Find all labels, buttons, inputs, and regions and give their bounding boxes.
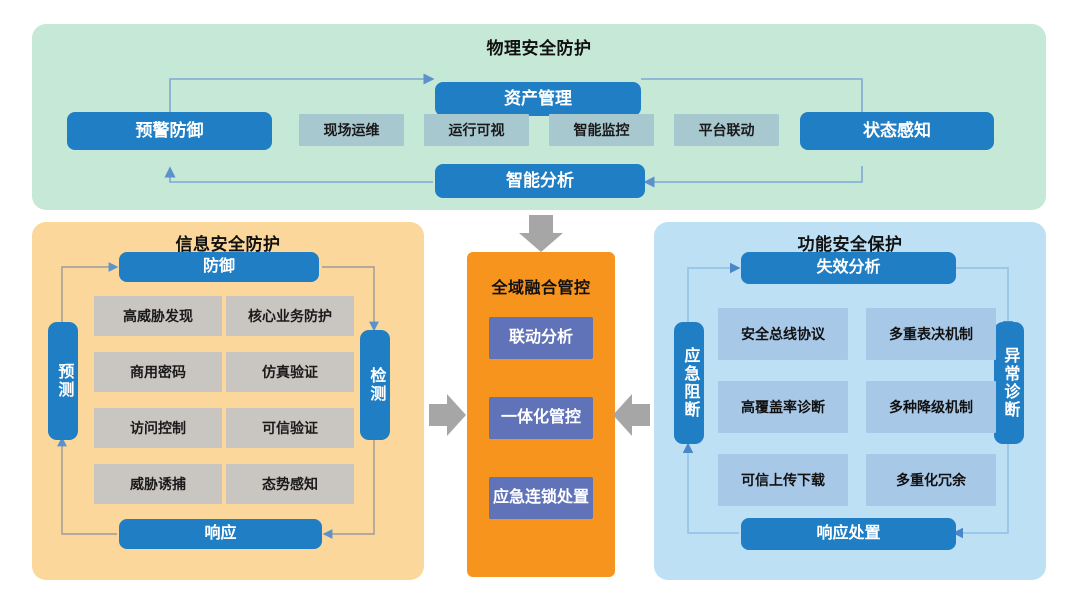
diagram-canvas: 物理安全防护 — [0, 0, 1080, 593]
info-item-3-1[interactable]: 态势感知 — [226, 464, 354, 504]
panel-functional-safety: 功能安全保护 失效分析 应急 — [654, 222, 1046, 580]
node-platform-linkage[interactable]: 平台联动 — [674, 114, 779, 146]
node-defense[interactable]: 防御 — [119, 252, 319, 282]
central-item-integrated-control[interactable]: 一体化管控 — [489, 397, 593, 439]
node-intelligent-analysis[interactable]: 智能分析 — [435, 164, 645, 198]
node-failure-analysis[interactable]: 失效分析 — [741, 252, 956, 284]
node-prediction-label: 预测 — [55, 363, 72, 399]
info-item-2-1[interactable]: 可信验证 — [226, 408, 354, 448]
panel-physical-title: 物理安全防护 — [32, 34, 1046, 59]
func-item-2-0[interactable]: 可信上传下载 — [718, 454, 848, 506]
info-item-1-0[interactable]: 商用密码 — [94, 352, 222, 392]
node-status-awareness[interactable]: 状态感知 — [800, 112, 994, 150]
info-item-0-1[interactable]: 核心业务防护 — [226, 296, 354, 336]
node-operation-visibility[interactable]: 运行可视 — [424, 114, 529, 146]
arrow-left-icon — [613, 394, 650, 436]
node-emergency-block[interactable]: 应急阻断 — [674, 322, 704, 444]
info-item-2-0[interactable]: 访问控制 — [94, 408, 222, 448]
node-anomaly-diagnosis-label: 异常诊断 — [1001, 347, 1018, 419]
panel-central-title: 全域融合管控 — [467, 274, 615, 298]
node-prediction[interactable]: 预测 — [48, 322, 78, 440]
node-asset-management[interactable]: 资产管理 — [435, 82, 641, 116]
func-item-1-0[interactable]: 高覆盖率诊断 — [718, 381, 848, 433]
func-item-2-1[interactable]: 多重化冗余 — [866, 454, 996, 506]
panel-central-control: 全域融合管控 联动分析 一体化管控 应急连锁处置 — [467, 252, 615, 577]
info-item-1-1[interactable]: 仿真验证 — [226, 352, 354, 392]
arrow-down-icon — [519, 215, 563, 252]
node-early-warning-defense[interactable]: 预警防御 — [67, 112, 272, 150]
info-item-3-0[interactable]: 威胁诱捕 — [94, 464, 222, 504]
node-smart-monitoring[interactable]: 智能监控 — [549, 114, 654, 146]
panel-information-security: 信息安全防护 — [32, 222, 424, 580]
node-onsite-ops[interactable]: 现场运维 — [299, 114, 404, 146]
central-item-emergency-chain[interactable]: 应急连锁处置 — [489, 477, 593, 519]
node-response[interactable]: 响应 — [119, 519, 322, 549]
node-detection[interactable]: 检测 — [360, 330, 390, 440]
node-detection-label: 检测 — [367, 367, 384, 403]
func-item-1-1[interactable]: 多种降级机制 — [866, 381, 996, 433]
node-emergency-block-label: 应急阻断 — [681, 347, 698, 419]
node-anomaly-diagnosis[interactable]: 异常诊断 — [994, 322, 1024, 444]
node-response-disposal[interactable]: 响应处置 — [741, 518, 956, 550]
central-item-linkage-analysis[interactable]: 联动分析 — [489, 317, 593, 359]
func-item-0-0[interactable]: 安全总线协议 — [718, 308, 848, 360]
panel-physical-security: 物理安全防护 — [32, 24, 1046, 210]
func-item-0-1[interactable]: 多重表决机制 — [866, 308, 996, 360]
info-item-0-0[interactable]: 高威胁发现 — [94, 296, 222, 336]
arrow-right-icon — [429, 394, 466, 436]
